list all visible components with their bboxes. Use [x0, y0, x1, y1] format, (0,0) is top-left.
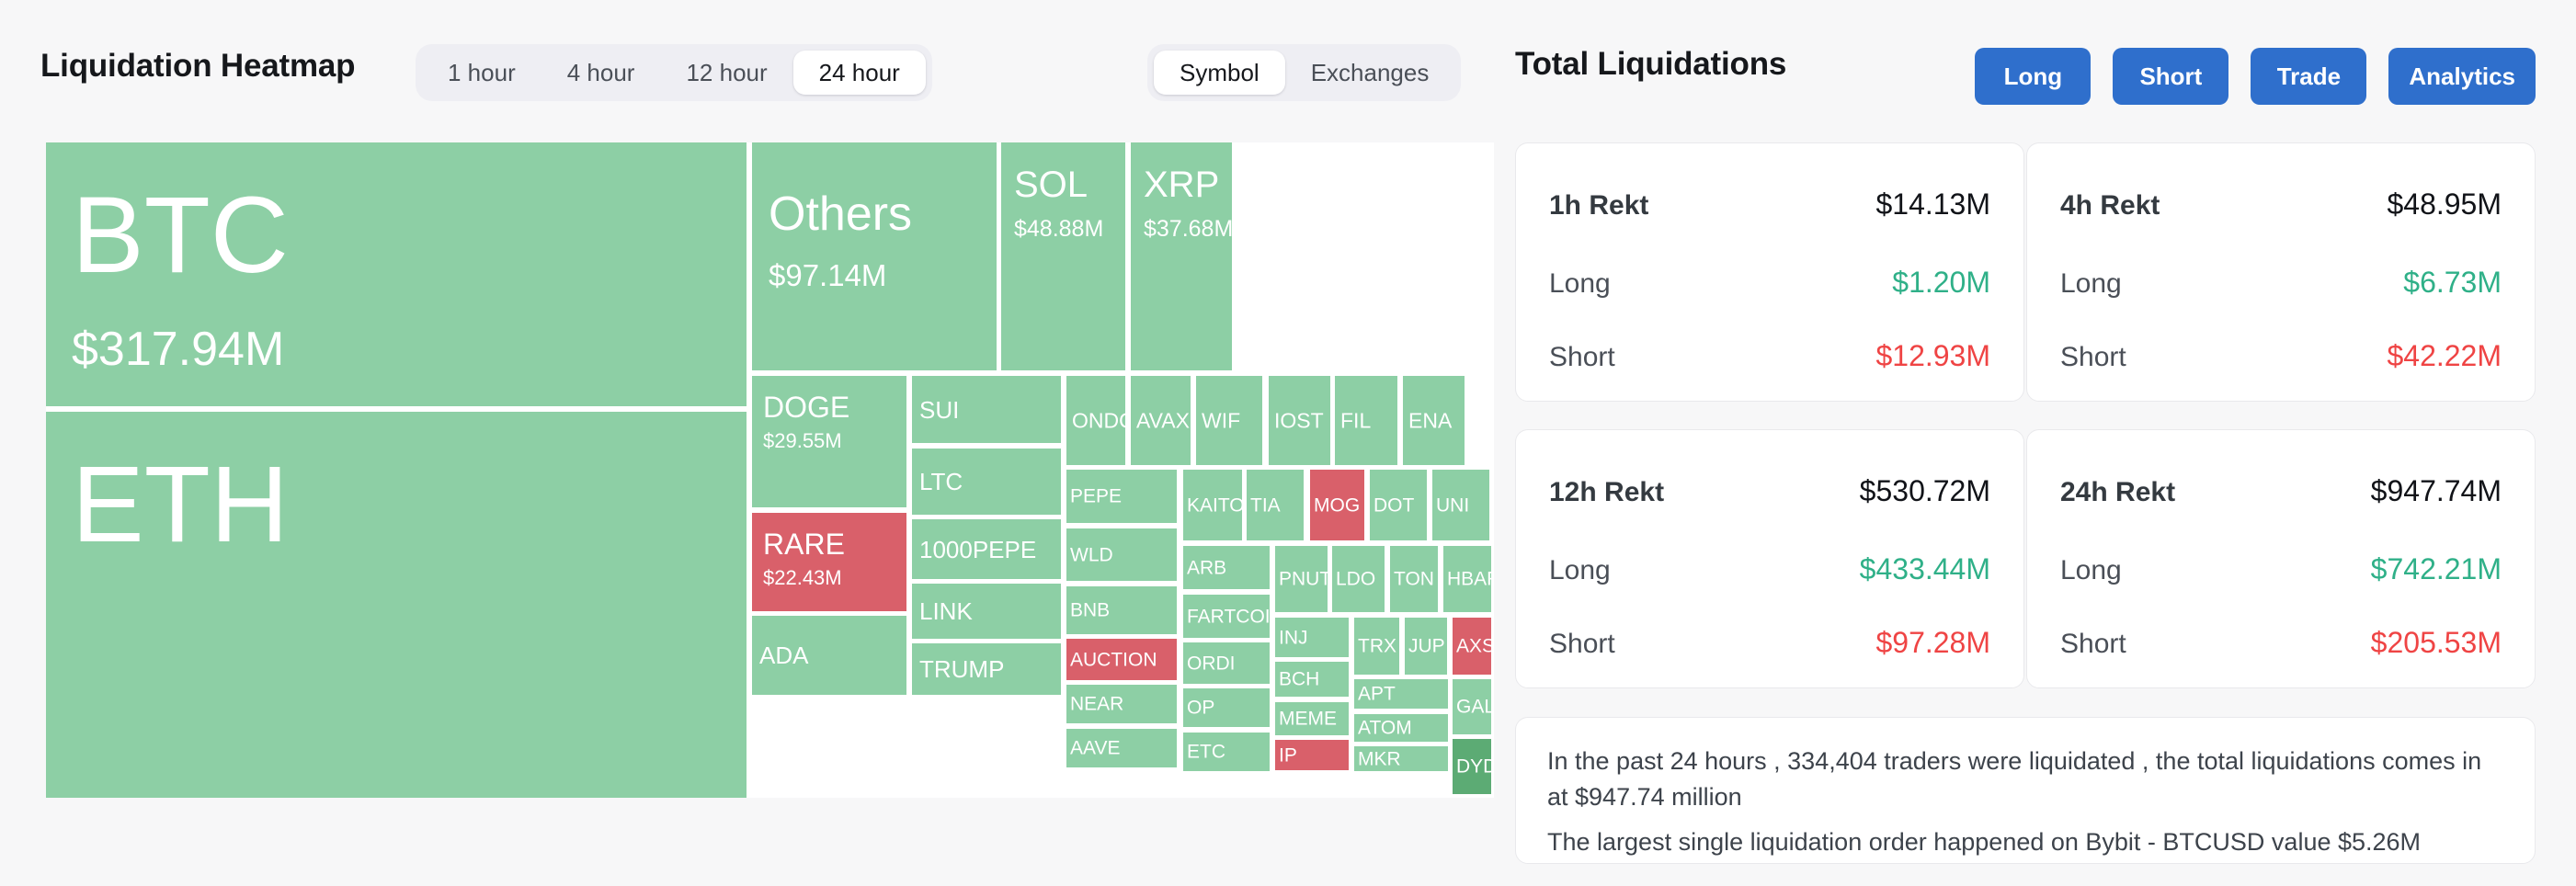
treemap-tile-label: PEPE: [1070, 487, 1122, 506]
treemap-tile-op[interactable]: OP: [1183, 688, 1270, 727]
treemap-tile-ip[interactable]: IP: [1275, 740, 1349, 770]
treemap-tile-label: MOG: [1314, 495, 1360, 515]
stat-head-row: 4h Rekt $48.95M: [2060, 187, 2502, 221]
stat-long-value: $6.73M: [2403, 266, 2502, 300]
summary-line-1: In the past 24 hours , 334,404 traders w…: [1547, 744, 2507, 815]
treemap-tile-label: ORDI: [1187, 653, 1236, 673]
treemap-tile-label: TRX: [1358, 637, 1396, 656]
treemap-tile-rare[interactable]: RARE$22.43M: [752, 513, 906, 611]
treemap-tile-apt[interactable]: APT: [1354, 679, 1448, 709]
stat-long-value: $742.21M: [2371, 552, 2502, 586]
treemap-tile-label: SUI: [919, 398, 959, 422]
trade-button[interactable]: Trade: [2251, 48, 2366, 105]
treemap-tile-label: LINK: [919, 599, 973, 623]
stat-long-row: Long $742.21M: [2060, 552, 2502, 586]
treemap-tile-wif[interactable]: WIF: [1196, 376, 1262, 465]
stat-card-4h-rekt: 4h Rekt $48.95M Long $6.73M Short $42.22…: [2026, 142, 2536, 402]
treemap-tile-sol[interactable]: SOL$48.88M: [1001, 142, 1125, 370]
treemap-tile-label: Others: [769, 190, 912, 238]
treemap-tile-label: NEAR: [1070, 695, 1123, 714]
treemap-tile-avax[interactable]: AVAX: [1131, 376, 1191, 465]
total-liquidations-title: Total Liquidations: [1515, 46, 1786, 83]
treemap-tile-label: MKR: [1358, 749, 1401, 768]
stat-long-row: Long $433.44M: [1549, 552, 1990, 586]
treemap-tile-trx[interactable]: TRX: [1354, 618, 1399, 675]
treemap-tile-1000pepe[interactable]: 1000PEPE: [912, 519, 1061, 579]
time-filter-12-hour[interactable]: 12 hour: [660, 51, 792, 95]
stat-long-label: Long: [2060, 555, 2122, 586]
treemap-tile-etc[interactable]: ETC: [1183, 733, 1270, 771]
treemap-tile-label: RARE: [763, 529, 845, 559]
treemap-tile-auction[interactable]: AUCTION: [1066, 639, 1177, 680]
view-mode-group: Symbol Exchanges: [1147, 44, 1461, 101]
treemap-tile-pepe[interactable]: PEPE: [1066, 470, 1177, 523]
treemap-tile-value: $29.55M: [763, 431, 842, 451]
stat-head-label: 4h Rekt: [2060, 190, 2160, 221]
treemap-tile-label: XRP: [1144, 166, 1219, 203]
treemap-tile-label: TON: [1394, 570, 1434, 589]
treemap-tile-value: $48.88M: [1014, 218, 1103, 241]
treemap-tile-value: $97.14M: [769, 260, 886, 290]
treemap-tile-label: DYDX: [1456, 757, 1491, 777]
treemap-tile-label: LTC: [919, 470, 963, 494]
time-filter-24-hour[interactable]: 24 hour: [793, 51, 926, 95]
treemap-tile-atom[interactable]: ATOM: [1354, 714, 1448, 742]
treemap-tile-value: $22.43M: [763, 568, 842, 588]
stat-short-label: Short: [2060, 629, 2126, 660]
liquidation-treemap[interactable]: BTC$317.94METH$248.20MOthers$97.14MSOL$4…: [46, 142, 1494, 798]
view-mode-exchanges[interactable]: Exchanges: [1285, 51, 1455, 95]
treemap-tile-label: IP: [1279, 745, 1297, 765]
treemap-tile-dydx[interactable]: DYDX: [1453, 739, 1491, 794]
treemap-tile-label: OP: [1187, 699, 1214, 718]
treemap-tile-inj[interactable]: INJ: [1275, 618, 1349, 657]
liquidation-summary-card: In the past 24 hours , 334,404 traders w…: [1515, 717, 2536, 864]
treemap-tile-label: TRUMP: [919, 657, 1004, 681]
stat-short-label: Short: [1549, 629, 1615, 660]
treemap-tile-label: BCH: [1279, 670, 1319, 689]
treemap-tile-value: $317.94M: [72, 325, 284, 373]
treemap-tile-label: BTC: [72, 181, 289, 290]
treemap-tile-mkr[interactable]: MKR: [1354, 746, 1448, 771]
treemap-tile-label: HBAR: [1447, 570, 1491, 589]
treemap-tile-dot[interactable]: DOT: [1370, 470, 1427, 540]
treemap-tile-label: LDO: [1336, 570, 1375, 589]
treemap-tile-label: IOST: [1274, 410, 1324, 431]
stat-card-24h-rekt: 24h Rekt $947.74M Long $742.21M Short $2…: [2026, 429, 2536, 688]
treemap-tile-label: AVAX: [1136, 410, 1190, 431]
stat-long-value: $433.44M: [1860, 552, 1990, 586]
treemap-tile-ordi[interactable]: ORDI: [1183, 642, 1270, 684]
stat-short-label: Short: [1549, 342, 1615, 373]
treemap-tile-label: KAITO: [1187, 495, 1242, 515]
stat-short-value: $42.22M: [2387, 339, 2502, 373]
treemap-tile-label: DOGE: [763, 392, 849, 422]
stat-short-value: $97.28M: [1875, 626, 1990, 660]
stat-long-label: Long: [1549, 268, 1611, 300]
stat-short-row: Short $12.93M: [1549, 339, 1990, 373]
stat-card-12h-rekt: 12h Rekt $530.72M Long $433.44M Short $9…: [1515, 429, 2024, 688]
treemap-tile-ondo[interactable]: ONDO: [1066, 376, 1125, 465]
treemap-tile-label: WIF: [1202, 410, 1240, 431]
stat-long-value: $1.20M: [1892, 266, 1990, 300]
treemap-tile-eth[interactable]: ETH$248.20M: [46, 412, 747, 798]
stat-head-value: $48.95M: [2387, 187, 2502, 221]
stat-short-label: Short: [2060, 342, 2126, 373]
treemap-tile-label: WLD: [1070, 545, 1113, 564]
stat-short-row: Short $42.22M: [2060, 339, 2502, 373]
treemap-tile-label: ENA: [1408, 410, 1452, 431]
treemap-tile-label: ADA: [759, 643, 808, 667]
treemap-tile-btc[interactable]: BTC$317.94M: [46, 142, 747, 406]
treemap-tile-bch[interactable]: BCH: [1275, 662, 1349, 697]
stat-head-label: 12h Rekt: [1549, 477, 1664, 508]
treemap-tile-ada[interactable]: ADA: [752, 616, 906, 695]
treemap-tile-label: PNUT: [1279, 570, 1328, 589]
page-header: Liquidation Heatmap 1 hour 4 hour 12 hou…: [0, 0, 2576, 142]
stat-head-row: 12h Rekt $530.72M: [1549, 474, 1990, 508]
treemap-tile-label: TIA: [1250, 495, 1281, 515]
treemap-tile-label: BNB: [1070, 601, 1110, 620]
stat-long-row: Long $6.73M: [2060, 266, 2502, 300]
stat-short-row: Short $205.53M: [2060, 626, 2502, 660]
treemap-tile-meme[interactable]: MEME: [1275, 702, 1349, 735]
treemap-tile-pnut[interactable]: PNUT: [1275, 546, 1328, 612]
treemap-tile-label: GALA: [1456, 698, 1491, 717]
treemap-tile-label: 1000PEPE: [919, 538, 1036, 562]
time-filter-group: 1 hour 4 hour 12 hour 24 hour: [416, 44, 932, 101]
treemap-tile-label: SOL: [1014, 166, 1088, 203]
view-mode-symbol[interactable]: Symbol: [1154, 51, 1285, 95]
treemap-tile-ena[interactable]: ENA: [1403, 376, 1465, 465]
treemap-tile-mog[interactable]: MOG: [1310, 470, 1364, 540]
treemap-tile-label: ATOM: [1358, 719, 1412, 738]
treemap-tile-doge[interactable]: DOGE$29.55M: [752, 376, 906, 507]
stat-short-value: $12.93M: [1875, 339, 1990, 373]
stat-head-value: $947.74M: [2371, 474, 2502, 508]
treemap-tile-label: FIL: [1340, 410, 1371, 431]
treemap-tile-label: ARB: [1187, 558, 1226, 577]
action-button-bar: Long Short Trade Analytics: [1975, 48, 2536, 105]
treemap-tile-fil[interactable]: FIL: [1335, 376, 1397, 465]
treemap-tile-uni[interactable]: UNI: [1432, 470, 1489, 540]
treemap-tile-tia[interactable]: TIA: [1247, 470, 1304, 540]
treemap-tile-xrp[interactable]: XRP$37.68M: [1131, 142, 1232, 370]
treemap-tile-label: AAVE: [1070, 739, 1120, 758]
treemap-tile-trump[interactable]: TRUMP: [912, 643, 1061, 695]
stat-head-label: 1h Rekt: [1549, 190, 1648, 221]
time-filter-1-hour[interactable]: 1 hour: [422, 51, 541, 95]
stat-head-value: $530.72M: [1860, 474, 1990, 508]
treemap-tile-others[interactable]: Others$97.14M: [752, 142, 997, 370]
treemap-tile-link[interactable]: LINK: [912, 584, 1061, 639]
treemap-tile-label: FARTCOIN: [1187, 607, 1270, 626]
treemap-tile-iost[interactable]: IOST: [1269, 376, 1330, 465]
stat-long-label: Long: [2060, 268, 2122, 300]
treemap-tile-value: $37.68M: [1144, 218, 1232, 241]
treemap-tile-ton[interactable]: TON: [1390, 546, 1438, 612]
analytics-button[interactable]: Analytics: [2388, 48, 2536, 105]
treemap-tile-label: AXS: [1456, 637, 1491, 656]
short-button[interactable]: Short: [2113, 48, 2228, 105]
treemap-tile-label: JUP: [1408, 637, 1445, 656]
stat-head-value: $14.13M: [1875, 187, 1990, 221]
page-title: Liquidation Heatmap: [40, 48, 355, 85]
stat-head-row: 1h Rekt $14.13M: [1549, 187, 1990, 221]
treemap-tile-arb[interactable]: ARB: [1183, 546, 1270, 589]
stat-short-row: Short $97.28M: [1549, 626, 1990, 660]
treemap-tile-ltc[interactable]: LTC: [912, 449, 1061, 515]
treemap-tile-label: ONDO: [1072, 410, 1125, 431]
treemap-tile-aave[interactable]: AAVE: [1066, 729, 1177, 767]
treemap-tile-label: INJ: [1279, 628, 1308, 647]
treemap-tile-label: ETC: [1187, 743, 1225, 762]
stat-long-label: Long: [1549, 555, 1611, 586]
treemap-tile-bnb[interactable]: BNB: [1066, 586, 1177, 634]
stat-head-row: 24h Rekt $947.74M: [2060, 474, 2502, 508]
treemap-tile-near[interactable]: NEAR: [1066, 685, 1177, 723]
treemap-tile-sui[interactable]: SUI: [912, 376, 1061, 443]
treemap-tile-ldo[interactable]: LDO: [1332, 546, 1385, 612]
summary-line-2: The largest single liquidation order hap…: [1547, 824, 2507, 860]
treemap-tile-wld[interactable]: WLD: [1066, 528, 1177, 581]
treemap-tile-kaito[interactable]: KAITO: [1183, 470, 1242, 540]
treemap-tile-fartcoin[interactable]: FARTCOIN: [1183, 595, 1270, 638]
treemap-tile-jup[interactable]: JUP: [1405, 618, 1447, 675]
long-button[interactable]: Long: [1975, 48, 2091, 105]
stat-short-value: $205.53M: [2371, 626, 2502, 660]
treemap-tile-hbar[interactable]: HBAR: [1443, 546, 1491, 612]
treemap-tile-label: MEME: [1279, 710, 1337, 729]
treemap-tile-label: DOT: [1373, 495, 1414, 515]
time-filter-4-hour[interactable]: 4 hour: [541, 51, 661, 95]
treemap-tile-label: AUCTION: [1070, 650, 1157, 669]
stat-long-row: Long $1.20M: [1549, 266, 1990, 300]
treemap-tile-label: APT: [1358, 685, 1396, 704]
treemap-tile-gala[interactable]: GALA: [1453, 679, 1491, 734]
treemap-tile-axs[interactable]: AXS: [1453, 618, 1491, 675]
treemap-tile-label: ETH: [72, 450, 289, 559]
stat-head-label: 24h Rekt: [2060, 477, 2175, 508]
treemap-tile-label: UNI: [1436, 495, 1469, 515]
stat-card-1h-rekt: 1h Rekt $14.13M Long $1.20M Short $12.93…: [1515, 142, 2024, 402]
